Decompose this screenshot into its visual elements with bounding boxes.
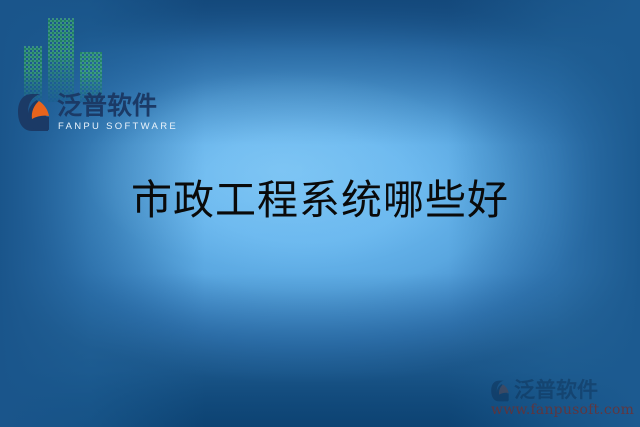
brand-logo: 泛普软件 FANPU SOFTWARE (17, 92, 178, 133)
promo-banner: 泛普软件 FANPU SOFTWARE 市政工程系统哪些好 泛普软件 www.f… (0, 0, 640, 427)
fanpu-logo-mark-icon (17, 93, 52, 132)
pixel-column-2-icon (48, 18, 74, 102)
watermark-url: www.fanpusoft.com (491, 402, 632, 419)
green-pixel-skyline-decoration (22, 16, 122, 102)
headline-text: 市政工程系统哪些好 (0, 174, 640, 226)
brand-logo-text: 泛普软件 FANPU SOFTWARE (57, 92, 178, 133)
watermark: 泛普软件 www.fanpusoft.com (490, 379, 632, 419)
brand-name-cn: 泛普软件 (57, 92, 178, 120)
watermark-brand-cn: 泛普软件 (514, 379, 598, 402)
fanpu-logo-mark-icon (490, 380, 511, 402)
brand-name-en: FANPU SOFTWARE (58, 121, 178, 133)
watermark-logo-row: 泛普软件 (490, 379, 632, 402)
